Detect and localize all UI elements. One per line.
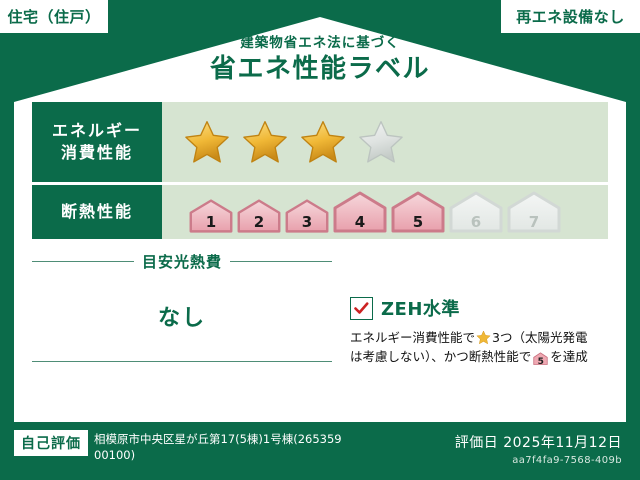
insulation-performance-row: 断熱性能 1234567	[32, 185, 608, 239]
insulation-level-value: 7	[506, 215, 562, 230]
insulation-level-5: 5	[390, 191, 446, 233]
zeh-description: エネルギー消費性能で3つ（太陽光発電は考慮しない）、かつ断熱性能で5を達成	[350, 328, 608, 371]
cost-value: なし	[32, 300, 332, 332]
check-icon	[354, 302, 369, 315]
insulation-level-value: 2	[236, 215, 282, 230]
insulation-level-value: 6	[448, 215, 504, 230]
zeh-desc-part3: を達成	[550, 349, 588, 364]
label-footer: 自己評価 相模原市中央区星が丘第17(5棟)1号棟(26535900100) 評…	[0, 422, 640, 480]
cost-bottom-divider	[32, 361, 332, 362]
energy-label-line2: 消費性能	[61, 142, 133, 164]
insulation-level-3: 3	[284, 199, 330, 233]
insulation-level-value: 4	[332, 215, 388, 230]
insulation-level-value: 1	[188, 215, 234, 230]
footer-left: 自己評価 相模原市中央区星が丘第17(5棟)1号棟(26535900100)	[14, 430, 344, 463]
zeh-block: ZEH水準 エネルギー消費性能で3つ（太陽光発電は考慮しない）、かつ断熱性能で5…	[332, 249, 608, 409]
energy-performance-row: エネルギー 消費性能	[32, 102, 608, 182]
cost-title: 目安光熱費	[142, 251, 222, 272]
self-evaluation-badge: 自己評価	[14, 430, 88, 456]
zeh-checkbox[interactable]	[350, 297, 373, 320]
house-icon: 5	[533, 351, 548, 370]
zeh-desc-part2: は考慮しない）、かつ断熱性能で	[350, 349, 531, 364]
star-icon-filled	[242, 119, 288, 165]
page-title: 省エネ性能ラベル	[0, 53, 640, 86]
title-block: 建築物省エネ法に基づく 省エネ性能ラベル	[0, 36, 640, 85]
star-icon-filled	[184, 119, 230, 165]
zeh-desc-star-count: 3つ（太陽光発電	[492, 330, 587, 345]
energy-label-line1: エネルギー	[52, 120, 142, 142]
title-subtitle: 建築物省エネ法に基づく	[0, 36, 640, 51]
insulation-level-6: 6	[448, 191, 504, 233]
housing-type-badge: 住宅（住戸）	[0, 0, 108, 33]
footer-right: 評価日 2025年11月12日 aa7f4fa9-7568-409b	[455, 432, 622, 466]
inline-house-level: 5	[533, 356, 548, 370]
building-name: 相模原市中央区星が丘第17(5棟)1号棟(26535900100)	[94, 430, 344, 463]
star-icon-empty	[358, 119, 404, 165]
insulation-level-value: 3	[284, 215, 330, 230]
insulation-level-4: 4	[332, 191, 388, 233]
zeh-desc-part1: エネルギー消費性能で	[350, 330, 475, 345]
energy-performance-label: 住宅（住戸） 再エネ設備なし 建築物省エネ法に基づく 省エネ性能ラベル エネルギ…	[0, 0, 640, 480]
star-icon	[476, 330, 491, 345]
zeh-title: ZEH水準	[381, 295, 460, 321]
energy-performance-label: エネルギー 消費性能	[32, 102, 162, 182]
insulation-level-7: 7	[506, 191, 562, 233]
insulation-level-value: 5	[390, 215, 446, 230]
cost-rule-right	[230, 261, 332, 262]
evaluation-id: aa7f4fa9-7568-409b	[455, 455, 622, 466]
insulation-level-1: 1	[188, 199, 234, 233]
star-rating	[162, 102, 608, 182]
insulation-level-2: 2	[236, 199, 282, 233]
insulation-level-scale: 1234567	[184, 191, 562, 233]
star-icon-filled	[300, 119, 346, 165]
cost-rule-left	[32, 261, 134, 262]
lower-section: 目安光熱費 なし ZEH水準 エネルギー消費性能で3つ（太陽光発電は考慮しな	[32, 249, 608, 409]
insulation-performance-label: 断熱性能	[32, 185, 162, 239]
insulation-label-text: 断熱性能	[61, 201, 133, 223]
cost-heading: 目安光熱費	[32, 251, 332, 272]
renewable-equipment-badge: 再エネ設備なし	[501, 0, 640, 33]
evaluation-date: 評価日 2025年11月12日	[455, 432, 622, 452]
estimated-utility-cost-block: 目安光熱費 なし	[32, 249, 332, 409]
zeh-heading: ZEH水準	[350, 295, 608, 321]
